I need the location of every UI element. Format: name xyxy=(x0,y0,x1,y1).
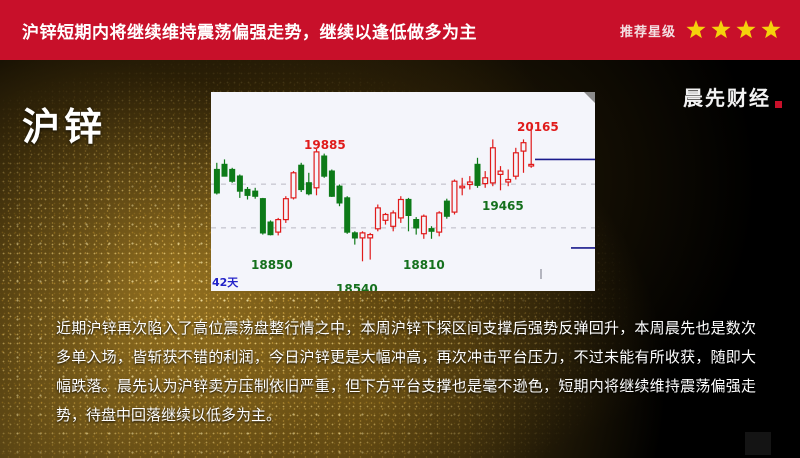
candlestick xyxy=(238,175,243,198)
candlestick xyxy=(291,171,296,199)
candlestick xyxy=(452,180,457,215)
candlestick xyxy=(284,196,289,223)
corner-watermark xyxy=(745,432,771,455)
annotation-18850: 18850 xyxy=(251,258,293,272)
star-icon xyxy=(685,19,707,41)
brand-logo: 晨先财经 xyxy=(683,82,782,111)
candlestick xyxy=(460,178,465,196)
star-icon xyxy=(735,19,757,41)
candlestick xyxy=(406,198,411,231)
annotation-20165: 20165 xyxy=(517,120,559,134)
annotation-19885: 19885 xyxy=(304,138,346,152)
candlestick xyxy=(491,139,496,186)
candlestick xyxy=(468,176,473,189)
candlestick xyxy=(521,139,526,172)
candlestick xyxy=(276,218,281,236)
brand-dot-icon xyxy=(775,101,782,108)
candlestick xyxy=(483,171,488,188)
page-title: 沪锌 xyxy=(22,96,106,151)
rating-group: 推荐星级 xyxy=(620,0,782,60)
brand-name: 晨先财经 xyxy=(683,82,771,111)
candlestick-chart-panel: 42天 19885 18850 18540 18810 19465 20165 xyxy=(211,92,595,291)
candlestick xyxy=(337,185,342,207)
candlestick xyxy=(330,170,335,198)
candlestick xyxy=(299,163,304,192)
candlestick xyxy=(514,148,519,180)
candlestick xyxy=(345,196,350,234)
candlestick xyxy=(414,217,419,235)
rating-label: 推荐星级 xyxy=(620,21,676,40)
candlestick xyxy=(506,170,511,187)
candlestick xyxy=(422,215,427,239)
chart-period-label: 42天 xyxy=(212,274,238,290)
candlestick xyxy=(376,205,381,232)
header-bar: 沪锌短期内将继续维持震荡偏强走势，继续以逢低做多为主 推荐星级 xyxy=(0,0,800,60)
annotation-18810: 18810 xyxy=(403,258,445,272)
star-rating xyxy=(685,19,782,41)
candlestick xyxy=(383,213,388,225)
annotation-18540: 18540 xyxy=(336,282,378,291)
candlestick xyxy=(253,188,258,199)
chart-corner-fold-icon xyxy=(584,92,595,103)
candlestick xyxy=(475,158,480,188)
candlestick xyxy=(399,196,404,223)
star-icon xyxy=(760,19,782,41)
star-icon xyxy=(710,19,732,41)
candlestick xyxy=(437,211,442,236)
slide-canvas: 沪锌短期内将继续维持震荡偏强走势，继续以逢低做多为主 推荐星级 晨先财经 沪锌 … xyxy=(0,0,800,458)
headline-text: 沪锌短期内将继续维持震荡偏强走势，继续以逢低做多为主 xyxy=(22,18,477,43)
candlestick xyxy=(268,220,273,235)
candlestick xyxy=(360,231,365,261)
candlestick xyxy=(261,198,266,235)
annotation-19465: 19465 xyxy=(482,199,524,213)
candlestick xyxy=(445,199,450,219)
candlestick xyxy=(314,149,319,195)
candlestick xyxy=(245,187,250,200)
candlestick xyxy=(222,159,227,176)
candlestick xyxy=(230,168,235,183)
analysis-paragraph: 近期沪锌再次陷入了高位震荡盘整行情之中，本周沪锌下探区间支撑后强势反弹回升，本周… xyxy=(56,314,756,430)
candlestick xyxy=(215,163,220,195)
candlestick xyxy=(307,173,312,196)
candlestick xyxy=(322,154,327,178)
candlestick xyxy=(368,233,373,260)
candlestick xyxy=(498,166,503,190)
candlestick xyxy=(353,231,358,244)
